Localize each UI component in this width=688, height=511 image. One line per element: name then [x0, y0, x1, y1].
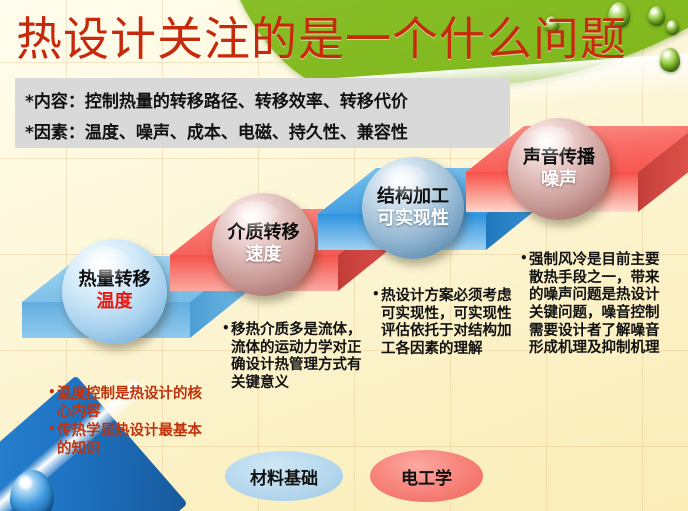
sphere-medium-transfer[interactable]: 介质转移 速度 — [212, 193, 315, 296]
sphere-label-primary: 介质转移 — [228, 223, 300, 244]
sphere-label-secondary: 可实现性 — [377, 208, 449, 230]
footer-oval-materials[interactable]: 材料基础 — [225, 451, 343, 501]
bullet-list-medium-transfer: 移热介质多是流体，流体的运动力学对正确设计热管理方式有关键意义 — [222, 322, 367, 395]
footer-oval-label: 材料基础 — [250, 464, 318, 489]
bullet-item: 强制风冷是目前主要散热手段之一，带来的噪声问题是热设计关键问题，噪音控制需要设计… — [520, 252, 670, 358]
droplet-highlight — [669, 22, 673, 26]
sphere-structure-manufacturing[interactable]: 结构加工 可实现性 — [362, 157, 464, 259]
bullet-item: 移热介质多是流体，流体的运动力学对正确设计热管理方式有关键意义 — [222, 322, 367, 393]
sphere-label-secondary: 噪声 — [541, 169, 577, 191]
page-title: 热设计关注的是一个什么问题 — [16, 8, 627, 70]
water-droplet-icon — [648, 6, 665, 26]
sphere-heat-transfer[interactable]: 热量转移 温度 — [62, 239, 167, 344]
summary-line-content: *内容：控制热量的转移路径、转移效率、转移代价 — [25, 87, 408, 112]
droplet-highlight — [652, 9, 657, 14]
sphere-label-primary: 结构加工 — [377, 187, 449, 208]
sphere-label-secondary: 温度 — [97, 291, 133, 313]
bullet-list-structure-manufacturing: 热设计方案必须考虑可实现性，可实现性评估依托于对结构加工各因素的理解 — [372, 288, 520, 361]
bullet-item: 传热学是热设计最基本的知识 — [48, 423, 208, 458]
bullet-list-heat-transfer: 温度控制是热设计的核心内容 传热学是热设计最基本的知识 — [48, 386, 208, 461]
water-droplet-icon — [660, 48, 680, 72]
footer-oval-label: 电工学 — [401, 464, 452, 489]
droplet-highlight — [664, 51, 670, 57]
sphere-label-primary: 热量转移 — [79, 270, 151, 291]
footer-oval-electrical[interactable]: 电工学 — [370, 450, 483, 502]
water-droplet-icon — [666, 20, 679, 35]
summary-line-factors: *因素：温度、噪声、成本、电磁、持久性、兼容性 — [25, 118, 408, 143]
sphere-label-primary: 声音传播 — [523, 148, 595, 169]
droplet-highlight — [19, 476, 32, 489]
bullet-item: 热设计方案必须考虑可实现性，可实现性评估依托于对结构加工各因素的理解 — [372, 288, 520, 359]
summary-box: *内容：控制热量的转移路径、转移效率、转移代价 *因素：温度、噪声、成本、电磁、… — [15, 78, 510, 148]
slide-canvas: 热设计关注的是一个什么问题 *内容：控制热量的转移路径、转移效率、转移代价 *因… — [0, 0, 688, 511]
sphere-sound-propagation[interactable]: 声音传播 噪声 — [508, 118, 610, 220]
bullet-item: 温度控制是热设计的核心内容 — [48, 386, 208, 421]
bullet-list-sound-propagation: 强制风冷是目前主要散热手段之一，带来的噪声问题是热设计关键问题，噪音控制需要设计… — [520, 252, 670, 360]
sphere-label-secondary: 速度 — [246, 244, 282, 266]
